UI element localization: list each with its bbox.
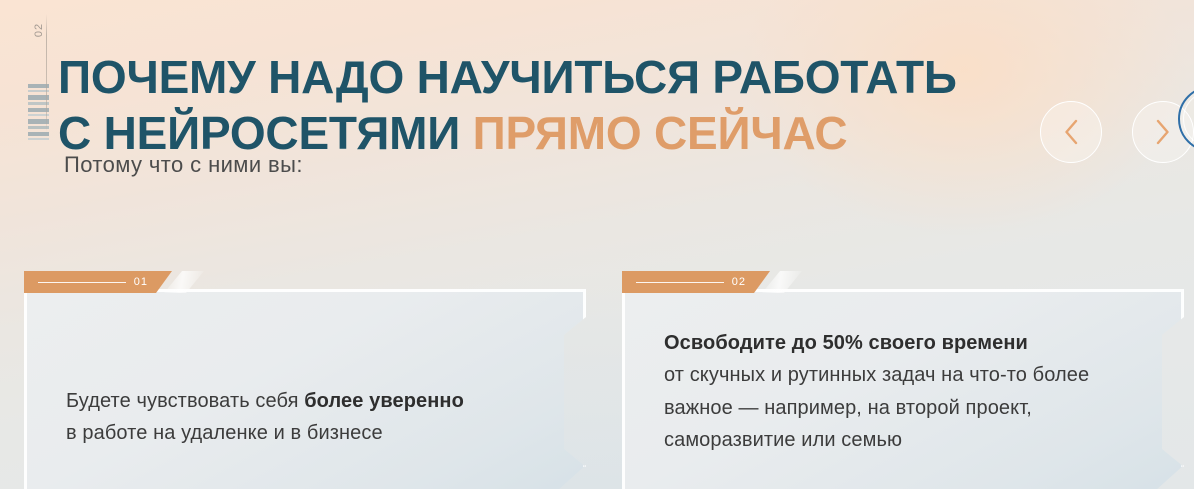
card-text: Будете чувствовать себя более уверенно в… — [66, 385, 530, 450]
card-line: Будете чувствовать себя более уверенно — [66, 385, 530, 417]
card-line: саморазвитие или семью — [664, 424, 1128, 456]
carousel-prev-button[interactable] — [1040, 101, 1102, 163]
benefit-card: 01 Будете чувствовать себя более уверенн… — [24, 289, 586, 489]
card-line-bold: более уверенно — [304, 390, 464, 412]
decorative-rail: 02 — [24, 18, 54, 140]
benefit-card: 02 Освободите до 50% своего времени от с… — [622, 289, 1184, 489]
chevron-right-icon — [1155, 119, 1171, 145]
subtitle: Потому что с ними вы: — [64, 152, 303, 178]
section-number: 02 — [33, 15, 45, 45]
card-line: от скучных и рутинных задач на что-то бо… — [664, 359, 1128, 391]
chevron-left-icon — [1063, 119, 1079, 145]
card-number-tab: 01 — [24, 271, 172, 293]
slide-root: 02 ПОЧЕМУ НАДО НАУЧИТЬСЯ РАБОТАТЬ С НЕЙР… — [0, 0, 1194, 489]
card-line-plain: саморазвитие или семью — [664, 429, 902, 451]
headline-accent: ПРЯМО СЕЙЧАС — [473, 107, 848, 159]
rail-divider — [46, 14, 47, 132]
card-line: Освободите до 50% своего времени — [664, 327, 1128, 359]
card-line-plain: в работе на удаленке и в бизнесе — [66, 422, 383, 444]
card-line-bold: Освободите до 50% своего времени — [664, 332, 1028, 354]
headline-line-1: ПОЧЕМУ НАДО НАУЧИТЬСЯ РАБОТАТЬ — [58, 51, 957, 103]
card-line: в работе на удаленке и в бизнесе — [66, 417, 530, 449]
card-line: важное — например, на второй проект, — [664, 392, 1128, 424]
card-number: 02 — [732, 276, 746, 288]
card-line-plain: Будете чувствовать себя — [66, 390, 304, 412]
card-line-plain: от скучных и рутинных задач на что-то бо… — [664, 364, 1089, 386]
page-title: ПОЧЕМУ НАДО НАУЧИТЬСЯ РАБОТАТЬ С НЕЙРОСЕ… — [58, 49, 1018, 161]
card-line-plain: важное — например, на второй проект, — [664, 397, 1032, 419]
card-number-tab: 02 — [622, 271, 770, 293]
card-text: Освободите до 50% своего времени от скуч… — [664, 327, 1128, 457]
tab-rule — [636, 282, 724, 283]
tab-rule — [38, 282, 126, 283]
card-number: 01 — [134, 276, 148, 288]
